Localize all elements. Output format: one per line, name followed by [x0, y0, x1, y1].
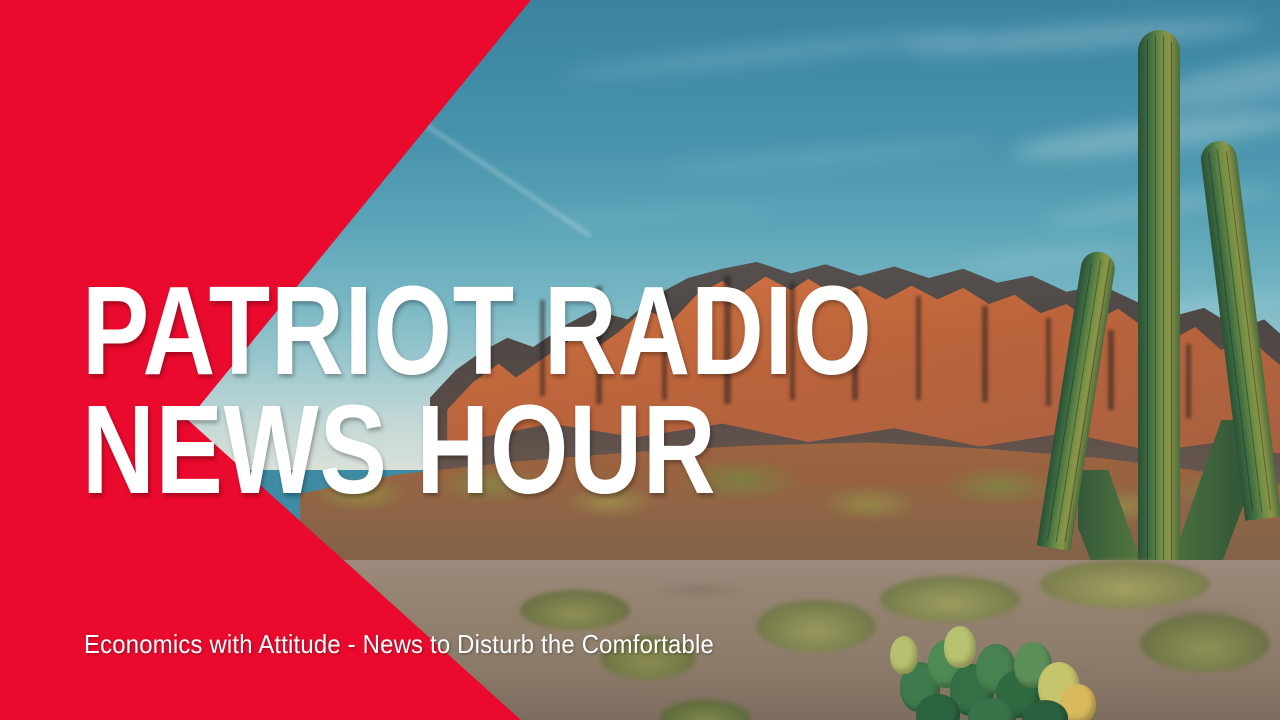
desert-bush [1140, 614, 1270, 672]
prickly-pear-pad [890, 636, 918, 674]
desert-bush [756, 600, 876, 652]
show-title-line-1: PATRIOT RADIO [82, 272, 873, 389]
show-tagline: Economics with Attitude - News to Distur… [84, 629, 714, 660]
desert-bush [1040, 560, 1210, 608]
desert-bush [520, 590, 630, 630]
rock-crevice [982, 306, 988, 402]
rock-crevice [1046, 318, 1051, 406]
rock-crevice [916, 296, 921, 400]
desert-bush [880, 576, 1020, 622]
prickly-pear-pad [944, 626, 976, 668]
video-thumbnail: PATRIOT RADIO NEWS HOUR Economics with A… [0, 0, 1280, 720]
rock-crevice [1186, 344, 1191, 418]
show-title-line-2: NEWS HOUR [82, 391, 873, 508]
show-title: PATRIOT RADIO NEWS HOUR [82, 272, 873, 508]
rock-crevice [1108, 330, 1114, 410]
